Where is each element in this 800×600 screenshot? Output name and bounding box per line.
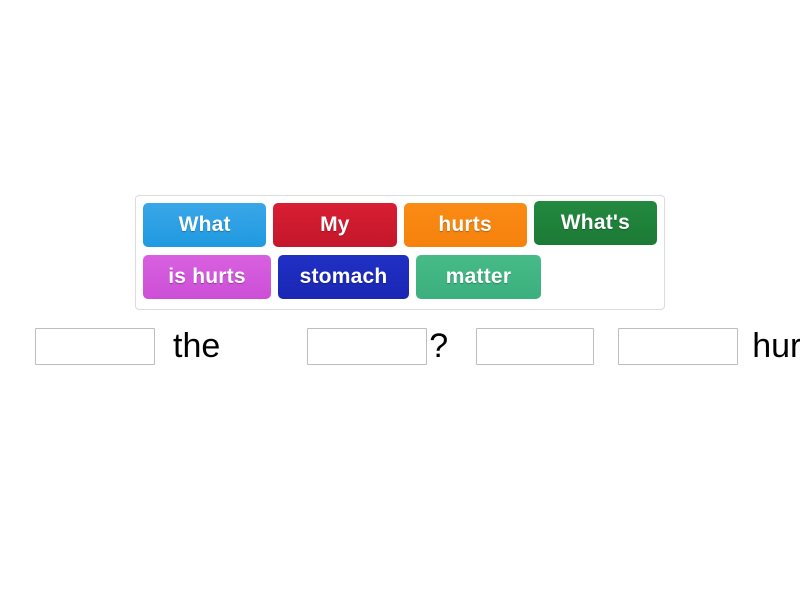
word-tile-whats[interactable]: What's (534, 201, 657, 245)
word-tile-matter[interactable]: matter (416, 255, 541, 299)
word-tile-stomach[interactable]: stomach (278, 255, 409, 299)
word-tile-hurts[interactable]: hurts (404, 203, 527, 247)
word-bank-panel: What My hurts What's is hurts stomach ma… (135, 195, 665, 310)
word-tile-is-hurts[interactable]: is hurts (143, 255, 271, 299)
sentence-word-hurts: hurts. (752, 329, 800, 363)
answer-blank-1[interactable] (35, 328, 155, 365)
answer-sentence-line: the ? hurts. (35, 320, 775, 372)
word-tile-my[interactable]: My (273, 203, 396, 247)
word-bank-row-1: What My hurts What's (143, 203, 664, 255)
answer-blank-3[interactable] (476, 328, 594, 365)
sentence-word-the: the (173, 329, 220, 363)
word-tile-what[interactable]: What (143, 203, 266, 247)
answer-blank-4[interactable] (618, 328, 738, 365)
word-bank-row-2: is hurts stomach matter (143, 255, 664, 307)
answer-blank-2[interactable] (307, 328, 427, 365)
sentence-question-mark: ? (429, 329, 448, 363)
